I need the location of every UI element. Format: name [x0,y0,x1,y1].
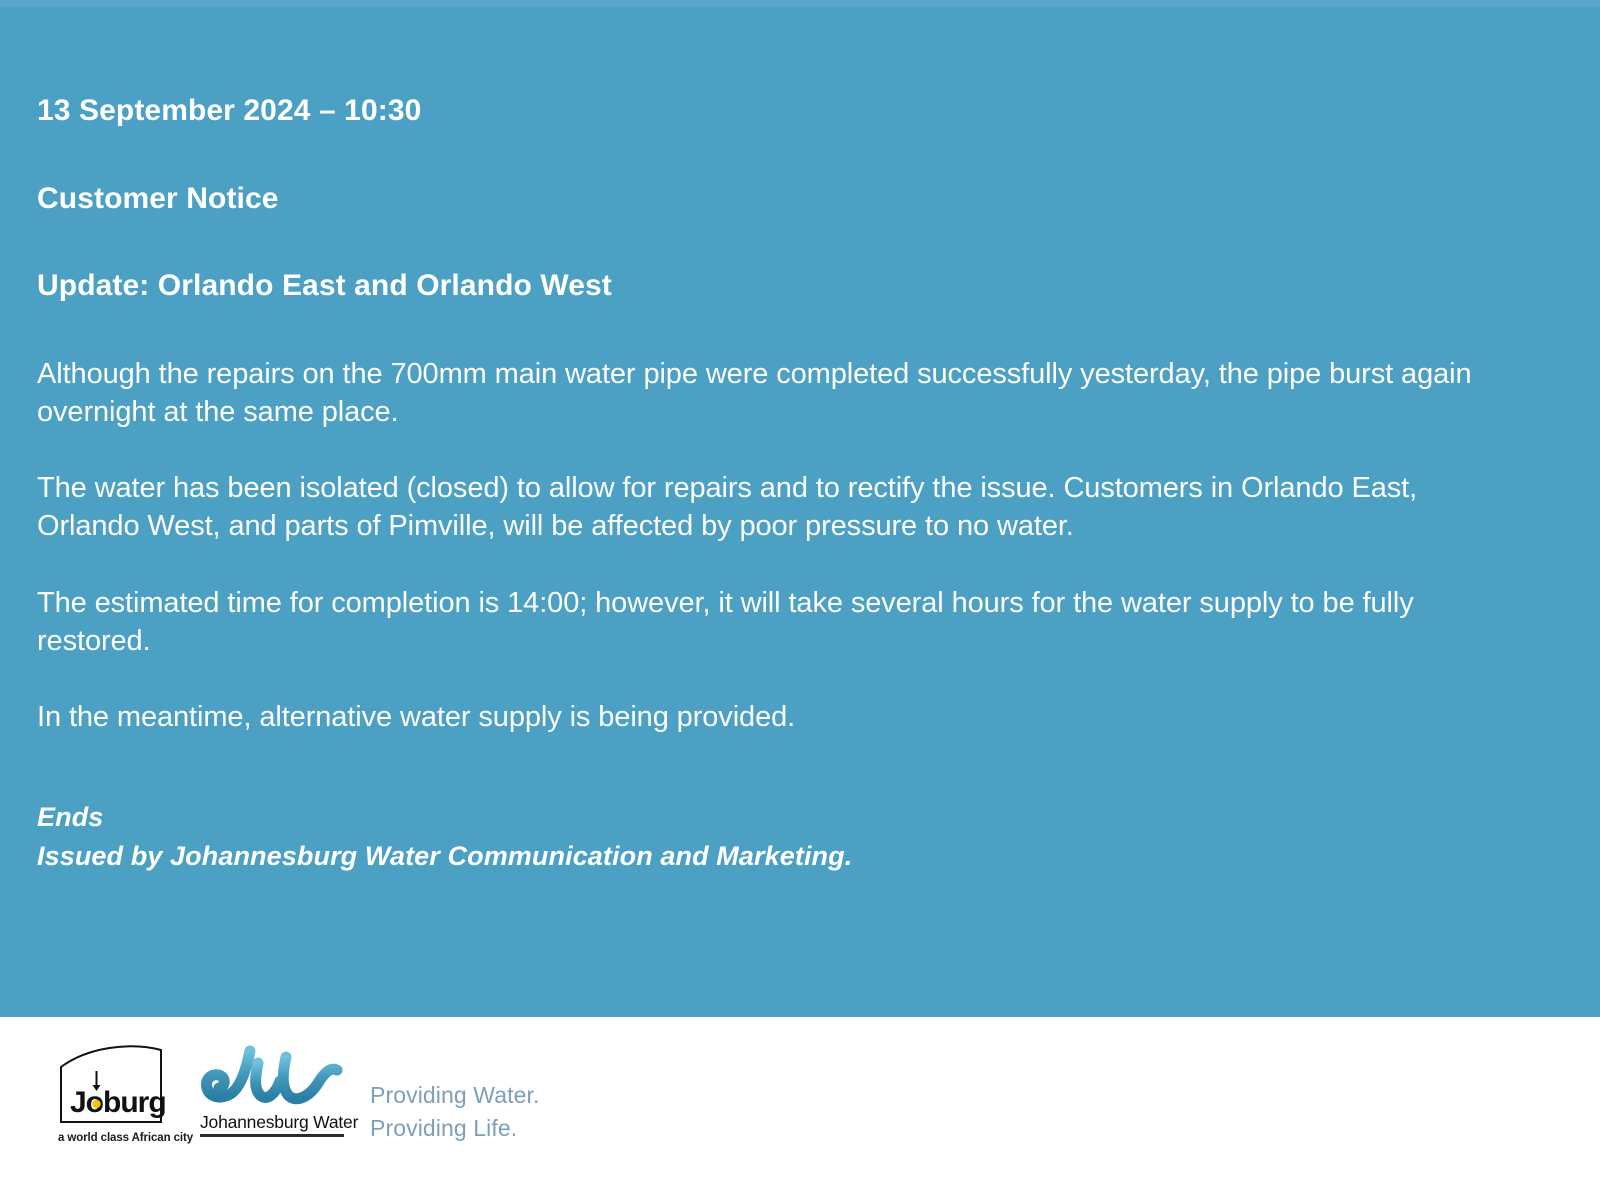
slogan-line-1: Providing Water. [370,1079,539,1112]
slogan-line-2: Providing Life. [370,1112,539,1145]
joburg-logo-icon: Joburg [58,1041,166,1125]
footer: Joburg a world class African city [0,1017,1600,1200]
svg-text:Joburg: Joburg [70,1086,166,1119]
notice-content: 13 September 2024 – 10:30 Customer Notic… [37,92,1487,875]
footer-slogan: Providing Water. Providing Life. [370,1041,539,1144]
customer-notice-page: 13 September 2024 – 10:30 Customer Notic… [0,0,1600,1200]
notice-paragraph-1: Although the repairs on the 700mm main w… [37,355,1487,432]
panel-top-edge [0,0,1600,7]
signoff-ends: Ends [37,798,1487,836]
notice-paragraph-4: In the meantime, alternative water suppl… [37,698,1487,736]
signoff-issued-by: Issued by Johannesburg Water Communicati… [37,837,1487,875]
joburg-logo-tagline: a world class African city [58,1132,180,1144]
notice-title: Customer Notice [37,180,1487,218]
jw-logo-underline [200,1134,344,1137]
johannesburg-water-logo: Johannesburg Water [200,1041,344,1137]
notice-subject: Update: Orlando East and Orlando West [37,267,1487,305]
jw-wave-monogram-icon [200,1045,344,1111]
joburg-city-logo: Joburg a world class African city [58,1041,180,1144]
notice-datetime: 13 September 2024 – 10:30 [37,92,1487,130]
jw-logo-name: Johannesburg Water [200,1112,344,1133]
notice-paragraph-3: The estimated time for completion is 14:… [37,584,1487,661]
notice-signoff: Ends Issued by Johannesburg Water Commun… [37,774,1487,875]
notice-paragraph-2: The water has been isolated (closed) to … [37,469,1487,546]
notice-panel: 13 September 2024 – 10:30 Customer Notic… [0,0,1600,1017]
footer-logos-row: Joburg a world class African city [58,1041,539,1144]
